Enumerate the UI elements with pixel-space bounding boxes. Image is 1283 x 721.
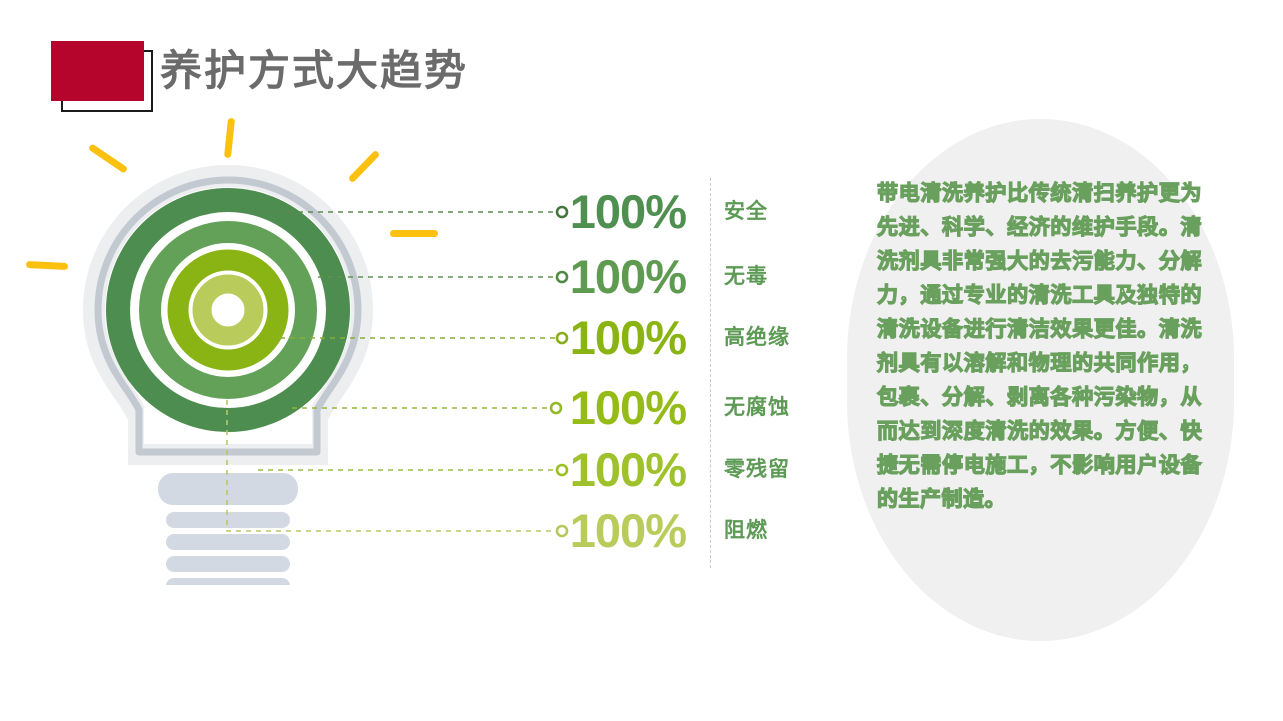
metric-value: 100% xyxy=(570,180,686,244)
slide-canvas: 养护方式大趋势 xyxy=(0,0,1283,721)
connector-dot-2 xyxy=(557,272,567,282)
connector-dot-5 xyxy=(557,465,567,475)
metric-label: 无腐蚀 xyxy=(724,376,790,440)
description-panel: 带电清洗养护比传统清扫养护更为先进、科学、经济的维护手段。清洗剂具非常强大的去污… xyxy=(847,119,1234,641)
metric-label: 高绝缘 xyxy=(724,306,790,370)
description-text: 带电清洗养护比传统清扫养护更为先进、科学、经济的维护手段。清洗剂具非常强大的去污… xyxy=(877,177,1202,517)
metric-value: 100% xyxy=(570,499,686,563)
metrics-list: 100% 安全 100% 无毒 100% 高绝缘 100% 无腐蚀 100% 零… xyxy=(576,180,806,570)
list-item[interactable]: 100% 高绝缘 xyxy=(576,306,806,370)
metric-label: 零残留 xyxy=(724,438,790,502)
connector-dot-6 xyxy=(557,526,567,536)
connector-line-6 xyxy=(227,400,556,531)
connector-dot-3 xyxy=(557,333,567,343)
metric-value: 100% xyxy=(570,306,686,370)
list-item[interactable]: 100% 无毒 xyxy=(576,245,806,309)
metric-label: 无毒 xyxy=(724,245,768,309)
list-item[interactable]: 100% 无腐蚀 xyxy=(576,376,806,440)
metric-value: 100% xyxy=(570,376,686,440)
list-item[interactable]: 100% 零残留 xyxy=(576,438,806,502)
list-item[interactable]: 100% 阻燃 xyxy=(576,499,806,563)
metric-value: 100% xyxy=(570,245,686,309)
metric-value: 100% xyxy=(570,438,686,502)
list-item[interactable]: 100% 安全 xyxy=(576,180,806,244)
metric-label: 阻燃 xyxy=(724,499,768,563)
connector-dot-4 xyxy=(551,403,561,413)
connector-dot-1 xyxy=(557,207,567,217)
metric-label: 安全 xyxy=(724,180,768,244)
